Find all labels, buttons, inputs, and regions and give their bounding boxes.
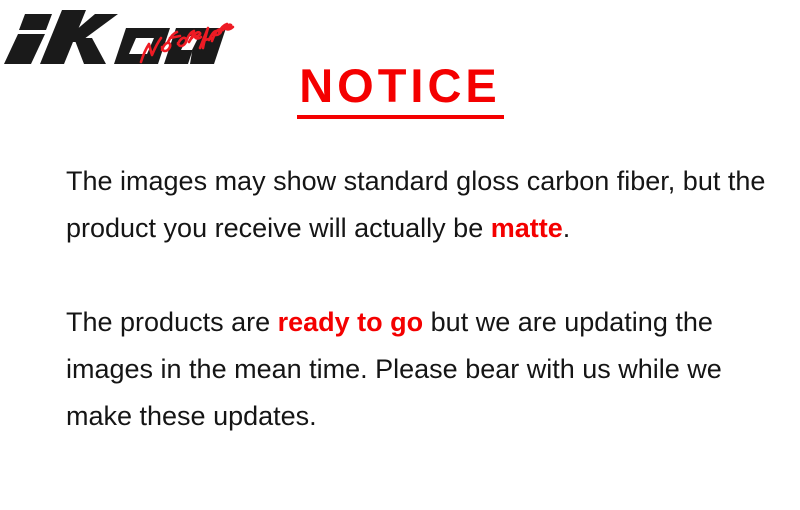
- paragraph-spacer: [66, 252, 766, 299]
- paragraph-1-highlight-matte: matte: [491, 213, 563, 243]
- notice-paragraph-1: The images may show standard gloss carbo…: [66, 158, 766, 252]
- paragraph-1-text-part-2: .: [563, 213, 571, 243]
- paragraph-2-text-part-1: The products are: [66, 307, 278, 337]
- notice-body: The images may show standard gloss carbo…: [66, 158, 766, 440]
- notice-paragraph-2: The products are ready to go but we are …: [66, 299, 766, 440]
- notice-banner: ikon Motorsports NOTICE The images may s…: [0, 0, 800, 510]
- notice-heading-underline: [297, 115, 504, 119]
- paragraph-1-text-part-1: The images may show standard gloss carbo…: [66, 166, 765, 243]
- paragraph-2-highlight-ready-to-go: ready to go: [278, 307, 424, 337]
- notice-heading: NOTICE: [0, 62, 800, 109]
